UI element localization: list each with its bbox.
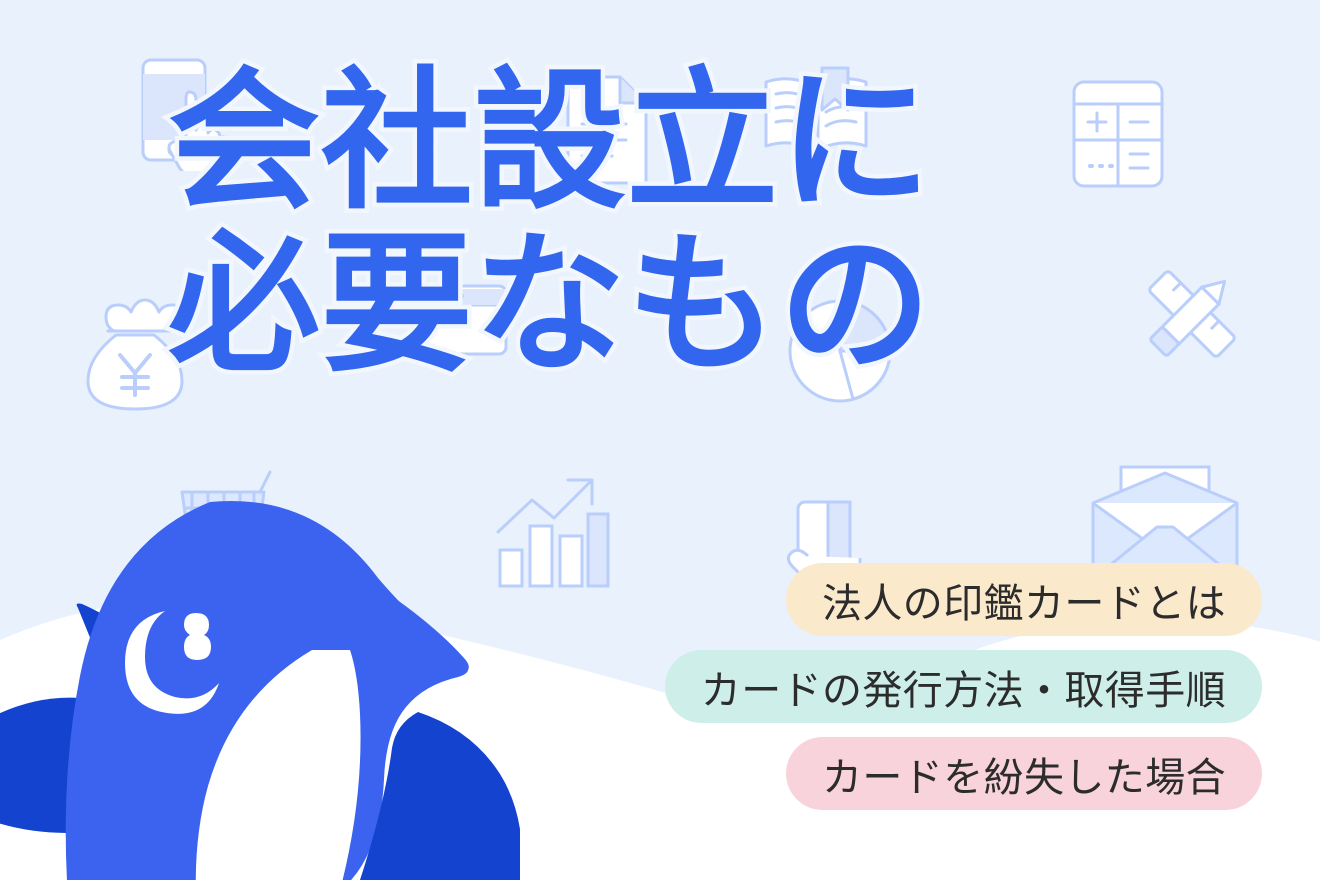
topic-pill-list: 法人の印鑑カードとは カードの発行方法・取得手順 カードを紛失した場合 (665, 563, 1262, 810)
topic-pill-2[interactable]: カードの発行方法・取得手順 (665, 650, 1262, 723)
topic-pill-1[interactable]: 法人の印鑑カードとは (786, 563, 1262, 636)
topic-pill-3[interactable]: カードを紛失した場合 (786, 737, 1262, 810)
banner-canvas: 会社設立に 必要なもの 法人の印鑑カードとは カードの発行方法・取得手順 カード… (0, 0, 1320, 880)
banner-title: 会社設立に 必要なもの (168, 68, 1178, 380)
title-line-1: 会社設立に (168, 68, 1178, 217)
title-line-2: 必要なもの (168, 231, 1178, 380)
penguin-mascot (0, 498, 520, 880)
